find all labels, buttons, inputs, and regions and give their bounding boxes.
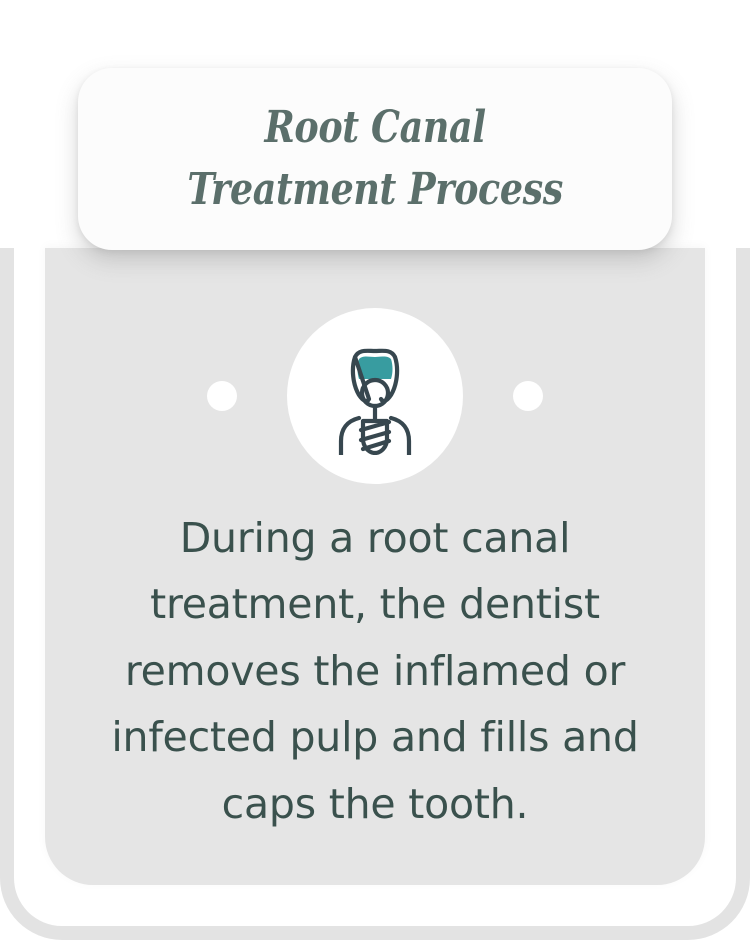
- icon-badge: [287, 308, 463, 484]
- card-stage: Root Canal Treatment Process: [0, 0, 750, 930]
- icon-row: [45, 308, 705, 484]
- card-description: During a root canal treatment, the denti…: [75, 505, 675, 837]
- page-title: Root Canal Treatment Process: [169, 97, 581, 222]
- tooth-implant-patient-icon: [319, 337, 431, 455]
- right-dot-decoration: [513, 381, 543, 411]
- title-card: Root Canal Treatment Process: [78, 68, 672, 250]
- left-dot-decoration: [207, 381, 237, 411]
